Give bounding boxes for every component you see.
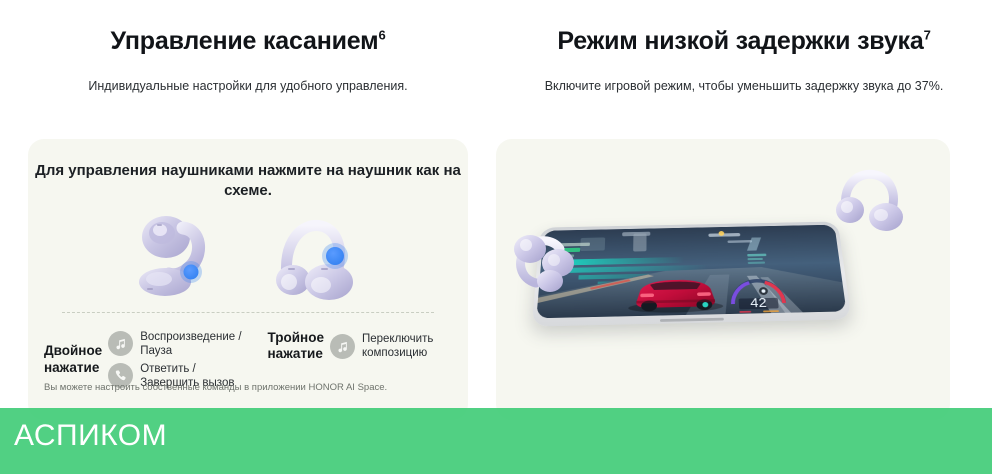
touch-control-card-heading: Для управления наушниками нажмите на нау… [28,161,468,202]
heading-column-touch-control: Управление касанием6 Индивидуальные наст… [0,26,496,95]
floating-earbud-top-right [830,165,908,237]
earbuds-diagram [28,210,468,306]
page-title-touch-control-text: Управление касанием [111,27,379,55]
music-note-icon [330,334,355,359]
headings-row: Управление касанием6 Индивидуальные наст… [0,0,992,95]
legend-group-double-tap: Двойное нажатие Воспроизведение / Пауза [44,330,242,390]
touch-control-card: Для управления наушниками нажмите на нау… [28,139,468,420]
home-indicator [660,318,724,322]
touch-indicator [184,264,199,279]
promo-page: Управление касанием6 Индивидуальные наст… [0,0,992,474]
page-title-low-latency: Режим низкой задержки звука7 [496,26,992,56]
floating-earbud-left [506,227,584,295]
touch-indicator [326,247,344,265]
aspikom-banner-text: АСПИКОМ [14,421,167,451]
page-title-touch-control-footnote-marker: 6 [378,28,385,43]
earbud-open-ear-front-view [263,212,367,304]
page-title-low-latency-footnote-marker: 7 [924,28,931,43]
hud-speed-value: 42 [750,294,768,310]
touch-control-footnote: Вы можете настроить собственные команды … [44,382,452,395]
legend-group-triple-tap: Тройное нажатие Переключить композицию [268,330,434,364]
music-note-icon [108,331,133,356]
page-title-low-latency-text: Режим низкой задержки звука [557,27,923,55]
cards-row: Для управления наушниками нажмите на нау… [0,139,992,420]
legend-action-text: Переключить композицию [362,332,433,360]
divider [62,312,434,314]
page-title-touch-control: Управление касанием6 [0,26,496,56]
aspikom-banner: АСПИКОМ [0,408,992,474]
legend-actions-double-tap: Воспроизведение / Пауза Ответить / Завер… [108,330,241,390]
low-latency-card: 42 [496,139,950,420]
legend-actions-triple-tap: Переключить композицию [330,332,433,360]
legend-action-text: Воспроизведение / Пауза [140,330,241,358]
gesture-legend: Двойное нажатие Воспроизведение / Пауза [28,330,468,390]
legend-row: Переключить композицию [330,332,433,360]
page-subtitle-low-latency: Включите игровой режим, чтобы уменьшить … [496,78,992,95]
page-subtitle-touch-control: Индивидуальные настройки для удобного уп… [0,78,496,95]
heading-column-low-latency: Режим низкой задержки звука7 Включите иг… [496,26,992,95]
phone-racing-game-with-floating-earbuds: 42 [496,139,950,420]
legend-gesture-label-double-tap: Двойное нажатие [44,343,102,377]
legend-row: Воспроизведение / Пауза [108,330,241,358]
legend-gesture-label-triple-tap: Тройное нажатие [268,330,324,364]
earbud-open-ear-side-view [129,212,233,304]
